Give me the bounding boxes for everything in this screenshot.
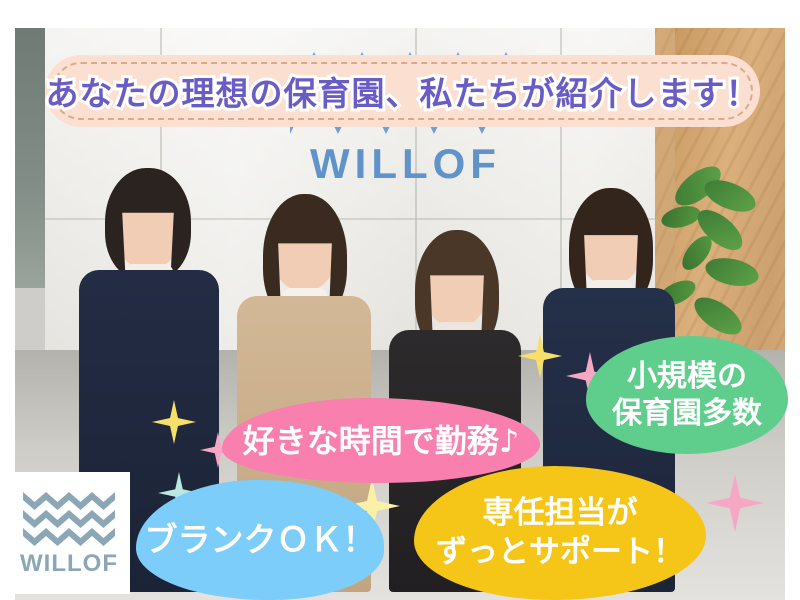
- bubble-line: 専任担当が: [483, 495, 638, 531]
- bubble-flexible-hours-text: 好きな時間で勤務♪: [243, 421, 519, 461]
- bubble-dedicated-support: 専任担当が ずっとサポート！: [414, 466, 706, 600]
- bubble-blank-ok: ブランクＯＫ！: [136, 480, 384, 600]
- bubble-line: 保育園多数: [612, 396, 762, 431]
- bubble-line: 小規模の: [627, 359, 747, 394]
- bubble-small-nursery: 小規模の 保育園多数: [586, 336, 788, 454]
- willof-zigzag-waves-icon: [23, 488, 115, 546]
- willof-wordmark: WILLOF: [20, 550, 118, 578]
- willof-logo: WILLOF: [8, 472, 130, 594]
- bubble-dedicated-support-text: 専任担当が ずっとサポート！: [436, 494, 684, 572]
- bubble-line: ずっとサポート！: [436, 534, 684, 570]
- headline-banner: あなたの理想の保育園、私たちが紹介します！: [45, 55, 760, 127]
- poster-canvas: WILLOF: [0, 0, 800, 600]
- bubble-small-nursery-text: 小規模の 保育園多数: [612, 358, 762, 433]
- headline-text: あなたの理想の保育園、私たちが紹介します！: [45, 67, 760, 115]
- bubble-blank-ok-text: ブランクＯＫ！: [145, 519, 376, 560]
